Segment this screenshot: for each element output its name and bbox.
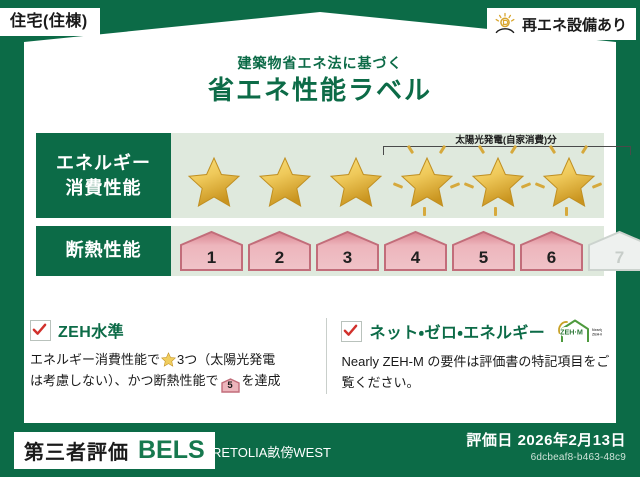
house-type-label: 住宅(住棟) <box>10 13 88 30</box>
evaluation-date-label: 評価日 <box>466 432 513 449</box>
star-icon <box>542 156 596 208</box>
insulation-grade-3: 3 <box>315 230 380 272</box>
insulation-grade-5: 5 <box>451 230 516 272</box>
sun-solar-icon <box>493 12 517 36</box>
insulation-grade-4: 4 <box>383 230 448 272</box>
insulation-grade-panel: 1 2 3 <box>171 226 604 276</box>
zeh-standard-body: エネルギー消費性能で3つ（太陽光発電は考慮しない）、かつ断熱性能で5を達成 <box>30 349 312 393</box>
insulation-performance-label: 断熱性能 <box>36 226 171 276</box>
check-icon <box>343 323 358 338</box>
grade-number: 4 <box>411 248 420 268</box>
insulation-grade-2: 2 <box>247 230 312 272</box>
metrics-section: エネルギー 消費性能 太陽光発電(自家消費)分 <box>36 133 604 284</box>
insulation-grade-7: 7 <box>587 230 640 272</box>
sparkle-mark <box>510 145 517 154</box>
evaluation-date-line: 評価日 2026年2月13日 <box>466 429 626 450</box>
star-4-solar <box>392 144 461 216</box>
star-1 <box>179 144 248 216</box>
grade-number: 3 <box>343 248 352 268</box>
star-2 <box>250 144 319 216</box>
zeh-body-part1: エネルギー消費性能で <box>30 352 160 367</box>
net-zero-energy-header: ネット・ゼロ・エネルギー ZEH·M Nearly ZEH-M <box>341 318 610 344</box>
energy-label-line1: エネルギー <box>56 151 151 175</box>
svg-text:Nearly: Nearly <box>592 328 602 332</box>
zeh-body-star-count: 3つ（太陽光発電 <box>177 352 275 367</box>
title-main: 省エネ性能ラベル <box>0 75 640 106</box>
bels-jp-label: 第三者評価 <box>24 436 129 465</box>
title-subtitle: 建築物省エネ法に基づく <box>0 55 640 72</box>
renewable-equipment-label: 再エネ設備あり <box>522 14 627 35</box>
sparkle-mark <box>565 207 568 216</box>
star-icon <box>258 156 312 208</box>
sparkle-mark <box>494 207 497 216</box>
grade-number: 1 <box>207 248 216 268</box>
net-zero-energy-body: Nearly ZEH-M の要件は評価書の特記項目をご覧ください。 <box>341 351 610 394</box>
zeh-standard-checkbox[interactable] <box>30 320 51 341</box>
label-title-block: 建築物省エネ法に基づく 省エネ性能ラベル <box>0 55 640 106</box>
grade-number: 2 <box>275 248 284 268</box>
star-5-solar <box>463 144 532 216</box>
star-icon <box>400 156 454 208</box>
grade-number: 7 <box>615 248 624 268</box>
evaluation-id: 6dcbeaf8-b463-48c9 <box>466 452 626 463</box>
insulation-grade-scale: 1 2 3 <box>179 230 640 272</box>
energy-performance-label: エネルギー 消費性能 <box>36 133 171 218</box>
zeh-body-part3: を達成 <box>242 373 281 388</box>
energy-performance-row: エネルギー 消費性能 太陽光発電(自家消費)分 <box>36 133 604 218</box>
zeh-standard-panel: ZEH水準 エネルギー消費性能で3つ（太陽光発電は考慮しない）、かつ断熱性能で5… <box>30 318 312 394</box>
net-zero-energy-title: ネット・ゼロ・エネルギー <box>369 319 545 343</box>
bels-en-label: BELS <box>138 436 205 465</box>
sparkle-mark <box>407 145 414 154</box>
zeh-standard-header: ZEH水準 <box>30 318 312 342</box>
star-icon <box>187 156 241 208</box>
net-zero-energy-checkbox[interactable] <box>341 321 362 342</box>
star-6-solar <box>534 144 603 216</box>
svg-text:ZEH-M: ZEH-M <box>592 332 602 336</box>
inline-house-grade: 5 <box>221 378 240 394</box>
inline-house-badge: 5 <box>221 378 240 393</box>
insulation-grade-6: 6 <box>519 230 584 272</box>
net-zero-energy-panel: ネット・ゼロ・エネルギー ZEH·M Nearly ZEH-M Nearly Z… <box>326 318 610 394</box>
inline-star-icon <box>161 352 176 367</box>
insulation-grade-1: 1 <box>179 230 244 272</box>
sparkle-mark <box>581 145 588 154</box>
footer-bar: 第三者評価 BELS RETOLIA畝傍WEST 評価日 2026年2月13日 … <box>0 423 640 477</box>
energy-performance-stars-panel: 太陽光発電(自家消費)分 <box>171 133 604 218</box>
star-icon <box>329 156 383 208</box>
star-rating <box>179 144 603 216</box>
star-3 <box>321 144 390 216</box>
evaluation-date-value: 2026年2月13日 <box>518 432 626 449</box>
insulation-label-text: 断熱性能 <box>66 240 142 262</box>
svg-text:ZEH·M: ZEH·M <box>560 328 583 337</box>
zeh-m-logo-icon: ZEH·M Nearly ZEH-M <box>556 318 602 344</box>
insulation-performance-row: 断熱性能 1 <box>36 226 604 276</box>
house-type-badge: 住宅(住棟) <box>0 8 100 36</box>
energy-label-line2: 消費性能 <box>66 176 142 200</box>
renewable-equipment-badge: 再エネ設備あり <box>487 8 636 40</box>
zeh-standard-title: ZEH水準 <box>58 318 124 342</box>
building-name: RETOLIA畝傍WEST <box>212 442 331 461</box>
zeh-body-part2: は考慮しない）、かつ断熱性能で <box>30 373 219 388</box>
house-badge-icon <box>587 230 640 272</box>
grade-number: 6 <box>547 248 556 268</box>
energy-performance-label: 住宅(住棟) 再エネ設備あり 建築物省エネ法に基づく 省エネ性能ラベル エネルギ… <box>0 0 640 477</box>
star-icon <box>471 156 525 208</box>
check-icon <box>32 322 47 337</box>
sparkle-mark <box>423 207 426 216</box>
zeh-criteria-section: ZEH水準 エネルギー消費性能で3つ（太陽光発電は考慮しない）、かつ断熱性能で5… <box>30 318 610 394</box>
bels-certification-chip: 第三者評価 BELS <box>14 432 215 469</box>
sparkle-mark <box>439 145 446 154</box>
evaluation-info: 評価日 2026年2月13日 6dcbeaf8-b463-48c9 <box>466 429 626 463</box>
grade-number: 5 <box>479 248 488 268</box>
sparkle-mark <box>549 145 556 154</box>
sparkle-mark <box>478 145 485 154</box>
